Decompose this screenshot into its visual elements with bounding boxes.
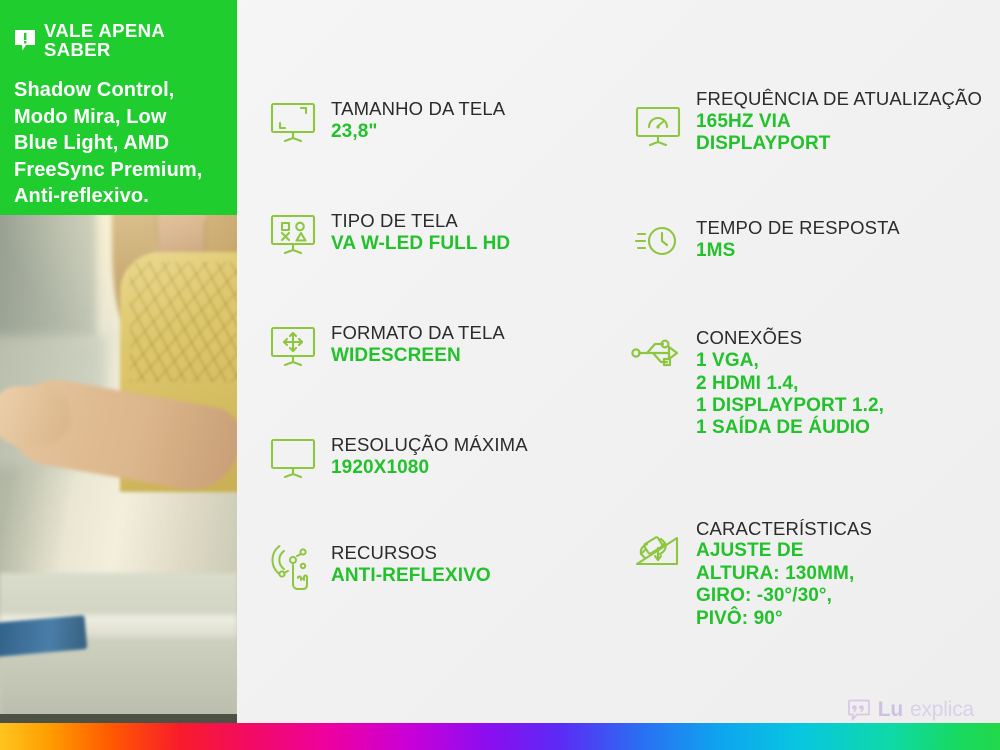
clock-speed-icon (630, 217, 686, 263)
spec-row-screen-format: FORMATO DA TELA WIDESCREEN (265, 322, 595, 368)
spec-value: 1MS (696, 240, 900, 262)
spec-value: 1 VGA, 2 HDMI 1.4, 1 DISPLAYPORT 1.2, 1 … (696, 350, 884, 440)
photo-shirt-pattern (130, 262, 237, 382)
lu-explica-logo: Lu explica (847, 698, 974, 722)
spec-label: RECURSOS (331, 542, 491, 564)
spec-row-max-resolution: RESOLUÇÃO MÁXIMA 1920X1080 (265, 434, 595, 480)
spec-row-refresh-rate: FREQUÊNCIA DE ATUALIZAÇÃO 165HZ VIA DISP… (630, 88, 990, 155)
spec-value: 165HZ VIA DISPLAYPORT (696, 111, 982, 156)
spec-row-connections: CONEXÕES 1 VGA, 2 HDMI 1.4, 1 DISPLAYPOR… (630, 327, 990, 439)
rainbow-gradient-strip (0, 723, 1000, 750)
spec-label: FORMATO DA TELA (331, 322, 505, 344)
banner-title: VALE APENA SABER (44, 22, 221, 59)
spec-row-characteristics: CARACTERÍSTICAS AJUSTE DE ALTURA: 130MM,… (630, 518, 990, 630)
spec-value: 23,8" (331, 121, 505, 143)
spec-label: FREQUÊNCIA DE ATUALIZAÇÃO (696, 88, 982, 110)
monitor-shapes-icon (265, 210, 321, 256)
banner-header: VALE APENA SABER (14, 22, 221, 59)
alert-speech-bubble-icon (14, 29, 36, 53)
usb-icon (630, 327, 686, 373)
spec-column-left: TAMANHO DA TELA 23,8" TIPO (265, 98, 595, 590)
spec-label: TIPO DE TELA (331, 210, 510, 232)
spec-row-response-time: TEMPO DE RESPOSTA 1MS (630, 217, 990, 263)
spec-label: CONEXÕES (696, 327, 884, 349)
spec-value: AJUSTE DE ALTURA: 130MM, GIRO: -30°/30°,… (696, 540, 872, 630)
vale-apena-saber-banner: VALE APENA SABER Shadow Control, Modo Mi… (0, 0, 237, 215)
monitor-size-icon (265, 98, 321, 144)
spec-text: FREQUÊNCIA DE ATUALIZAÇÃO 165HZ VIA DISP… (686, 88, 982, 155)
spec-label: CARACTERÍSTICAS (696, 518, 872, 540)
monitor-arrows-icon (265, 322, 321, 368)
spec-row-features: RECURSOS ANTI-REFLEXIVO (265, 542, 595, 590)
spec-text: FORMATO DA TELA WIDESCREEN (321, 322, 505, 367)
monitor-plain-icon (265, 434, 321, 480)
banner-body: Shadow Control, Modo Mira, Low Blue Ligh… (14, 77, 221, 210)
infographic-page: VALE APENA SABER Shadow Control, Modo Mi… (0, 0, 1000, 750)
spec-value: 1920X1080 (331, 457, 528, 479)
monitor-gauge-icon (630, 88, 686, 148)
spec-text: TAMANHO DA TELA 23,8" (321, 98, 505, 143)
spec-label: TAMANHO DA TELA (331, 98, 505, 120)
spec-text: RECURSOS ANTI-REFLEXIVO (321, 542, 491, 587)
spec-value: ANTI-REFLEXIVO (331, 565, 491, 587)
spec-row-screen-type: TIPO DE TELA VA W-LED FULL HD (265, 210, 595, 256)
spec-label: RESOLUÇÃO MÁXIMA (331, 434, 528, 456)
spec-column-right: FREQUÊNCIA DE ATUALIZAÇÃO 165HZ VIA DISP… (630, 88, 990, 630)
logo-name-light: explica (910, 698, 974, 722)
spec-value: WIDESCREEN (331, 345, 505, 367)
spec-label: TEMPO DE RESPOSTA (696, 217, 900, 239)
spec-text: TEMPO DE RESPOSTA 1MS (686, 217, 900, 262)
spec-text: CARACTERÍSTICAS AJUSTE DE ALTURA: 130MM,… (686, 518, 872, 630)
photo-bottom-strip (0, 714, 237, 723)
quote-speech-bubble-icon (847, 699, 871, 721)
spec-text: TIPO DE TELA VA W-LED FULL HD (321, 210, 510, 255)
spec-text: CONEXÕES 1 VGA, 2 HDMI 1.4, 1 DISPLAYPOR… (686, 327, 884, 439)
spec-row-screen-size: TAMANHO DA TELA 23,8" (265, 98, 595, 144)
spec-value: VA W-LED FULL HD (331, 233, 510, 255)
spec-text: RESOLUÇÃO MÁXIMA 1920X1080 (321, 434, 528, 479)
touch-signal-icon (265, 542, 321, 590)
logo-name-bold: Lu (878, 698, 903, 722)
tilt-adjust-icon (630, 518, 686, 574)
photo-hand (0, 386, 70, 446)
